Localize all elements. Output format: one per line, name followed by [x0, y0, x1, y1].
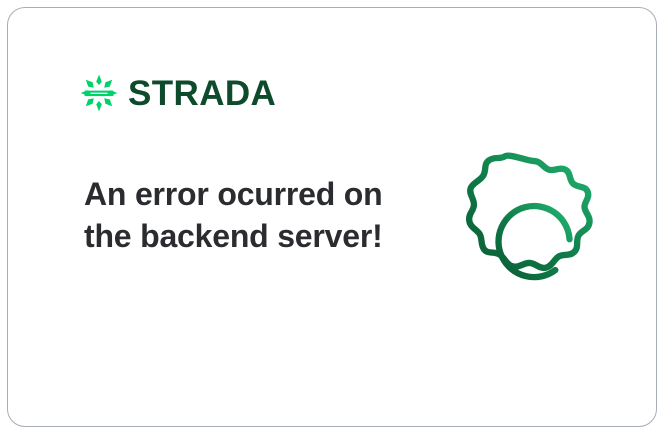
- brand-wordmark: STRADA: [128, 76, 276, 111]
- strada-asterisk-icon: [79, 73, 119, 113]
- brand-lockup: STRADA: [79, 73, 276, 113]
- error-card: STRADA An error ocurred on the backend s…: [7, 7, 657, 427]
- error-message: An error ocurred on the backend server!: [84, 173, 384, 257]
- gear-cog-icon: [455, 148, 613, 310]
- screen-root: STRADA An error ocurred on the backend s…: [0, 0, 666, 436]
